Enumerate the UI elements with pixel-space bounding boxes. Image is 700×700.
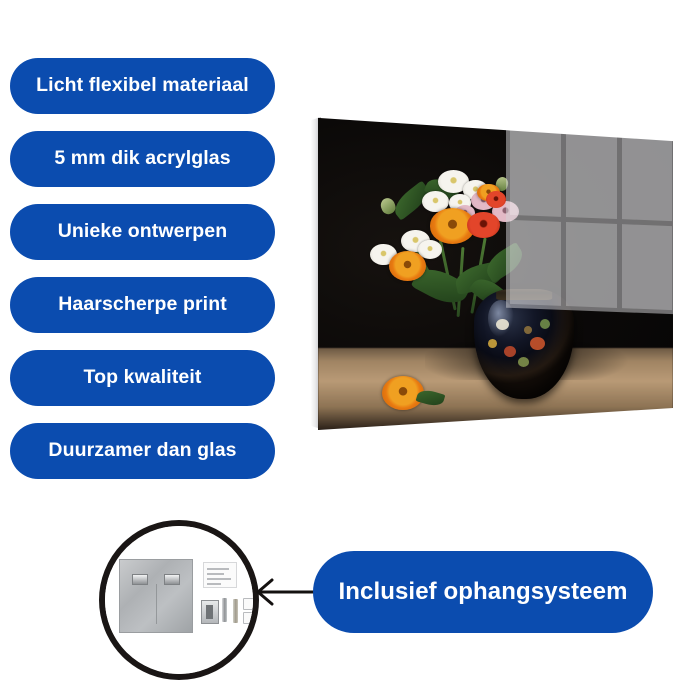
feature-badge-duurzamer-dan-glas[interactable]: Duurzamer dan glas (10, 423, 275, 479)
mounting-kit-circle-callout (99, 520, 259, 680)
feature-badge-label: Haarscherpe print (58, 295, 227, 315)
feature-badge-label: Top kwaliteit (84, 368, 202, 388)
plate-center-line (156, 584, 157, 624)
mounting-system-badge[interactable]: Inclusief ophangsysteem (313, 551, 653, 633)
feature-badge-licht-flexibel-materiaal[interactable]: Licht flexibel materiaal (10, 58, 275, 114)
arrow-left-icon (250, 574, 320, 610)
instruction-card (203, 562, 237, 588)
product-mockup-canvas: Licht flexibel materiaal 5 mm dik acrylg… (0, 0, 700, 700)
acrylic-print-panel (305, 100, 677, 445)
window-reflection-glare (506, 125, 673, 314)
artwork-surface (318, 116, 673, 430)
plate-slot-right (164, 574, 180, 585)
artwork-fallen-flower (382, 373, 439, 414)
mounting-plate (119, 559, 193, 633)
feature-badge-top-kwaliteit[interactable]: Top kwaliteit (10, 350, 275, 406)
plate-slot-left (132, 574, 148, 585)
feature-badge-label: Duurzamer dan glas (48, 441, 236, 461)
feature-badge-haarscherpe-print[interactable]: Haarscherpe print (10, 277, 275, 333)
spacer (243, 612, 258, 624)
mounting-kit-photo (105, 526, 253, 674)
feature-badge-unieke-ontwerpen[interactable]: Unieke ontwerpen (10, 204, 275, 260)
wall-plug (233, 599, 238, 623)
mounting-system-badge-label: Inclusief ophangsysteem (338, 580, 627, 604)
screw (222, 598, 227, 622)
feature-badge-5-mm-dik-acrylglas[interactable]: 5 mm dik acrylglas (10, 131, 275, 187)
feature-badge-label: Licht flexibel materiaal (36, 76, 249, 96)
feature-badge-label: Unieke ontwerpen (58, 222, 228, 242)
feature-badge-label: 5 mm dik acrylglas (54, 149, 230, 169)
wall-plug-box (201, 600, 219, 624)
